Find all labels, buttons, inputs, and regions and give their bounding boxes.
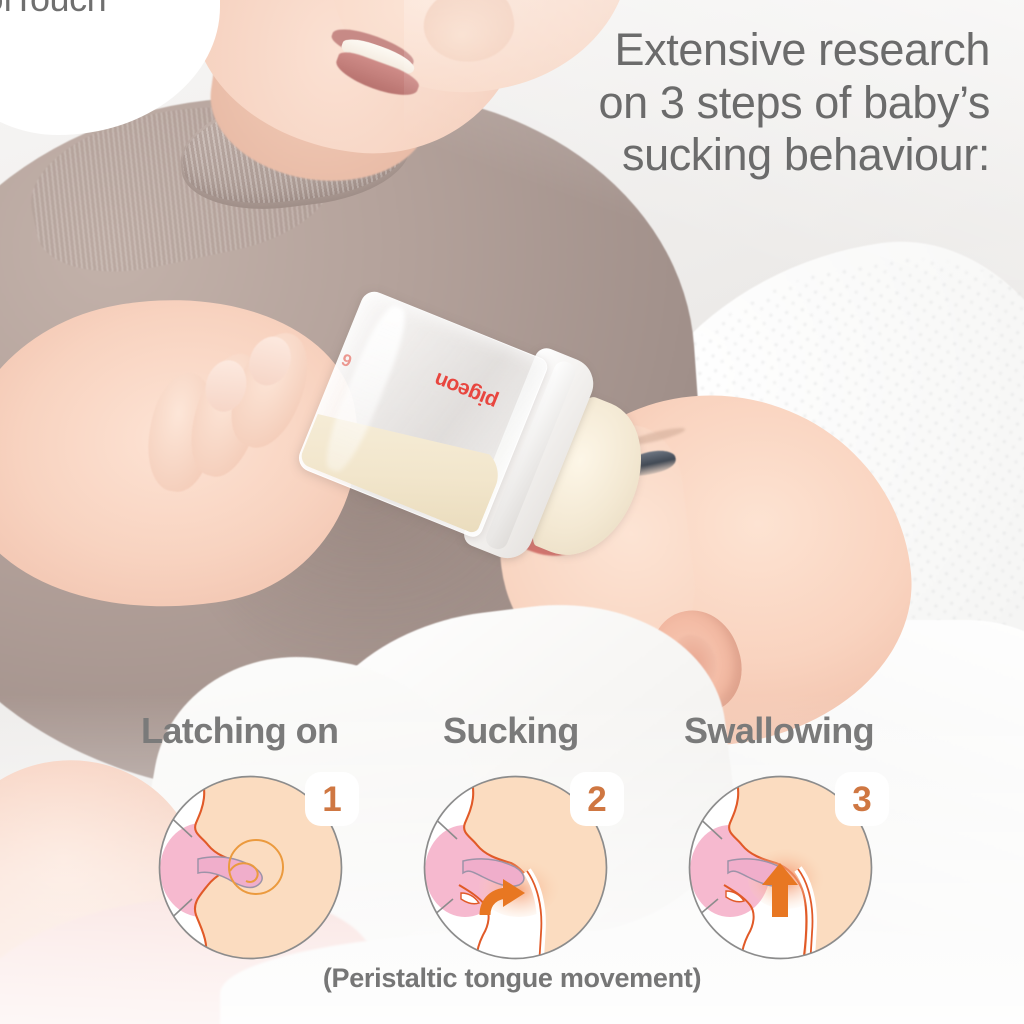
page-title: Extensive research on 3 steps of baby’s … xyxy=(430,24,990,182)
trademark-icon: ™ xyxy=(106,0,119,1)
brand-logo-softouch-text: SofTouch xyxy=(0,0,106,19)
headline-line-1: Extensive research xyxy=(430,24,990,77)
promo-image: 6 pigeon pigeon SofTouch™ Extensive rese… xyxy=(0,0,1024,1024)
diagram-swallowing: 3 xyxy=(688,775,873,960)
step-label-sucking: Sucking xyxy=(443,710,579,752)
headline-line-2: on 3 steps of baby’s xyxy=(430,77,990,130)
brand-logo-softouch: SofTouch™ xyxy=(0,0,140,17)
headline-line-3: sucking behaviour: xyxy=(430,129,990,182)
step-badge-1: 1 xyxy=(305,772,359,826)
step-badge-2: 2 xyxy=(570,772,624,826)
diagram-latching-on: 1 xyxy=(158,775,343,960)
step-label-latching-on: Latching on xyxy=(141,710,338,752)
brand-logo: pigeon SofTouch™ xyxy=(0,0,140,17)
step-badge-3: 3 xyxy=(835,772,889,826)
diagram-sucking: 2 xyxy=(423,775,608,960)
step-label-swallowing: Swallowing xyxy=(684,710,874,752)
diagram-caption: (Peristaltic tongue movement) xyxy=(0,963,1024,994)
